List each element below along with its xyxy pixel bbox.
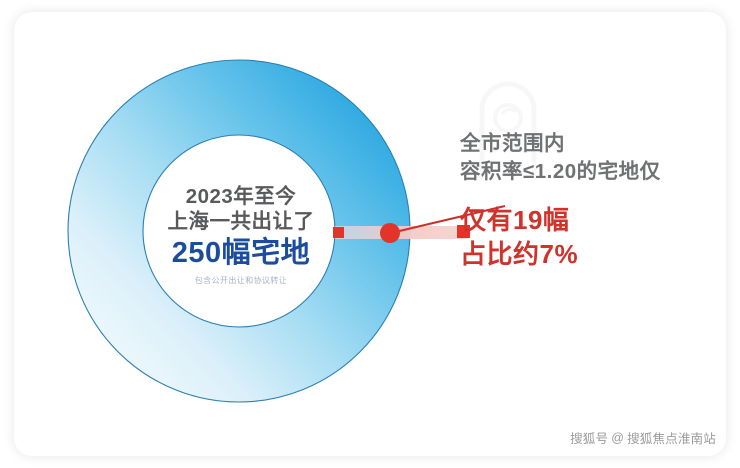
source-watermark: 搜狐号 @ 搜狐焦点淮南站	[570, 428, 716, 447]
annotation-gray-line-2: 容积率≤1.20的宅地仅	[460, 158, 710, 186]
annotation-red-line-1: 仅有19幅	[460, 203, 710, 237]
red-dot-marker	[380, 223, 400, 243]
callout-band	[335, 226, 467, 239]
callout-square-left	[333, 227, 344, 238]
watermark-account: 搜狐焦点淮南站	[627, 428, 716, 447]
annotation-gray-line-1: 全市范围内	[460, 130, 710, 158]
annotation-red: 仅有19幅 占比约7%	[460, 203, 710, 272]
annotation-block: 全市范围内 容积率≤1.20的宅地仅 仅有19幅 占比约7%	[460, 130, 710, 271]
infographic-card: 2023年至今 上海一共出让了 250幅宅地 包含公开出让和协议转让	[14, 12, 726, 456]
donut-ring-hole	[143, 135, 335, 327]
watermark-at-icon: @	[611, 431, 624, 445]
annotation-red-line-2: 占比约7%	[460, 237, 710, 271]
watermark-prefix: 搜狐号	[570, 428, 608, 447]
